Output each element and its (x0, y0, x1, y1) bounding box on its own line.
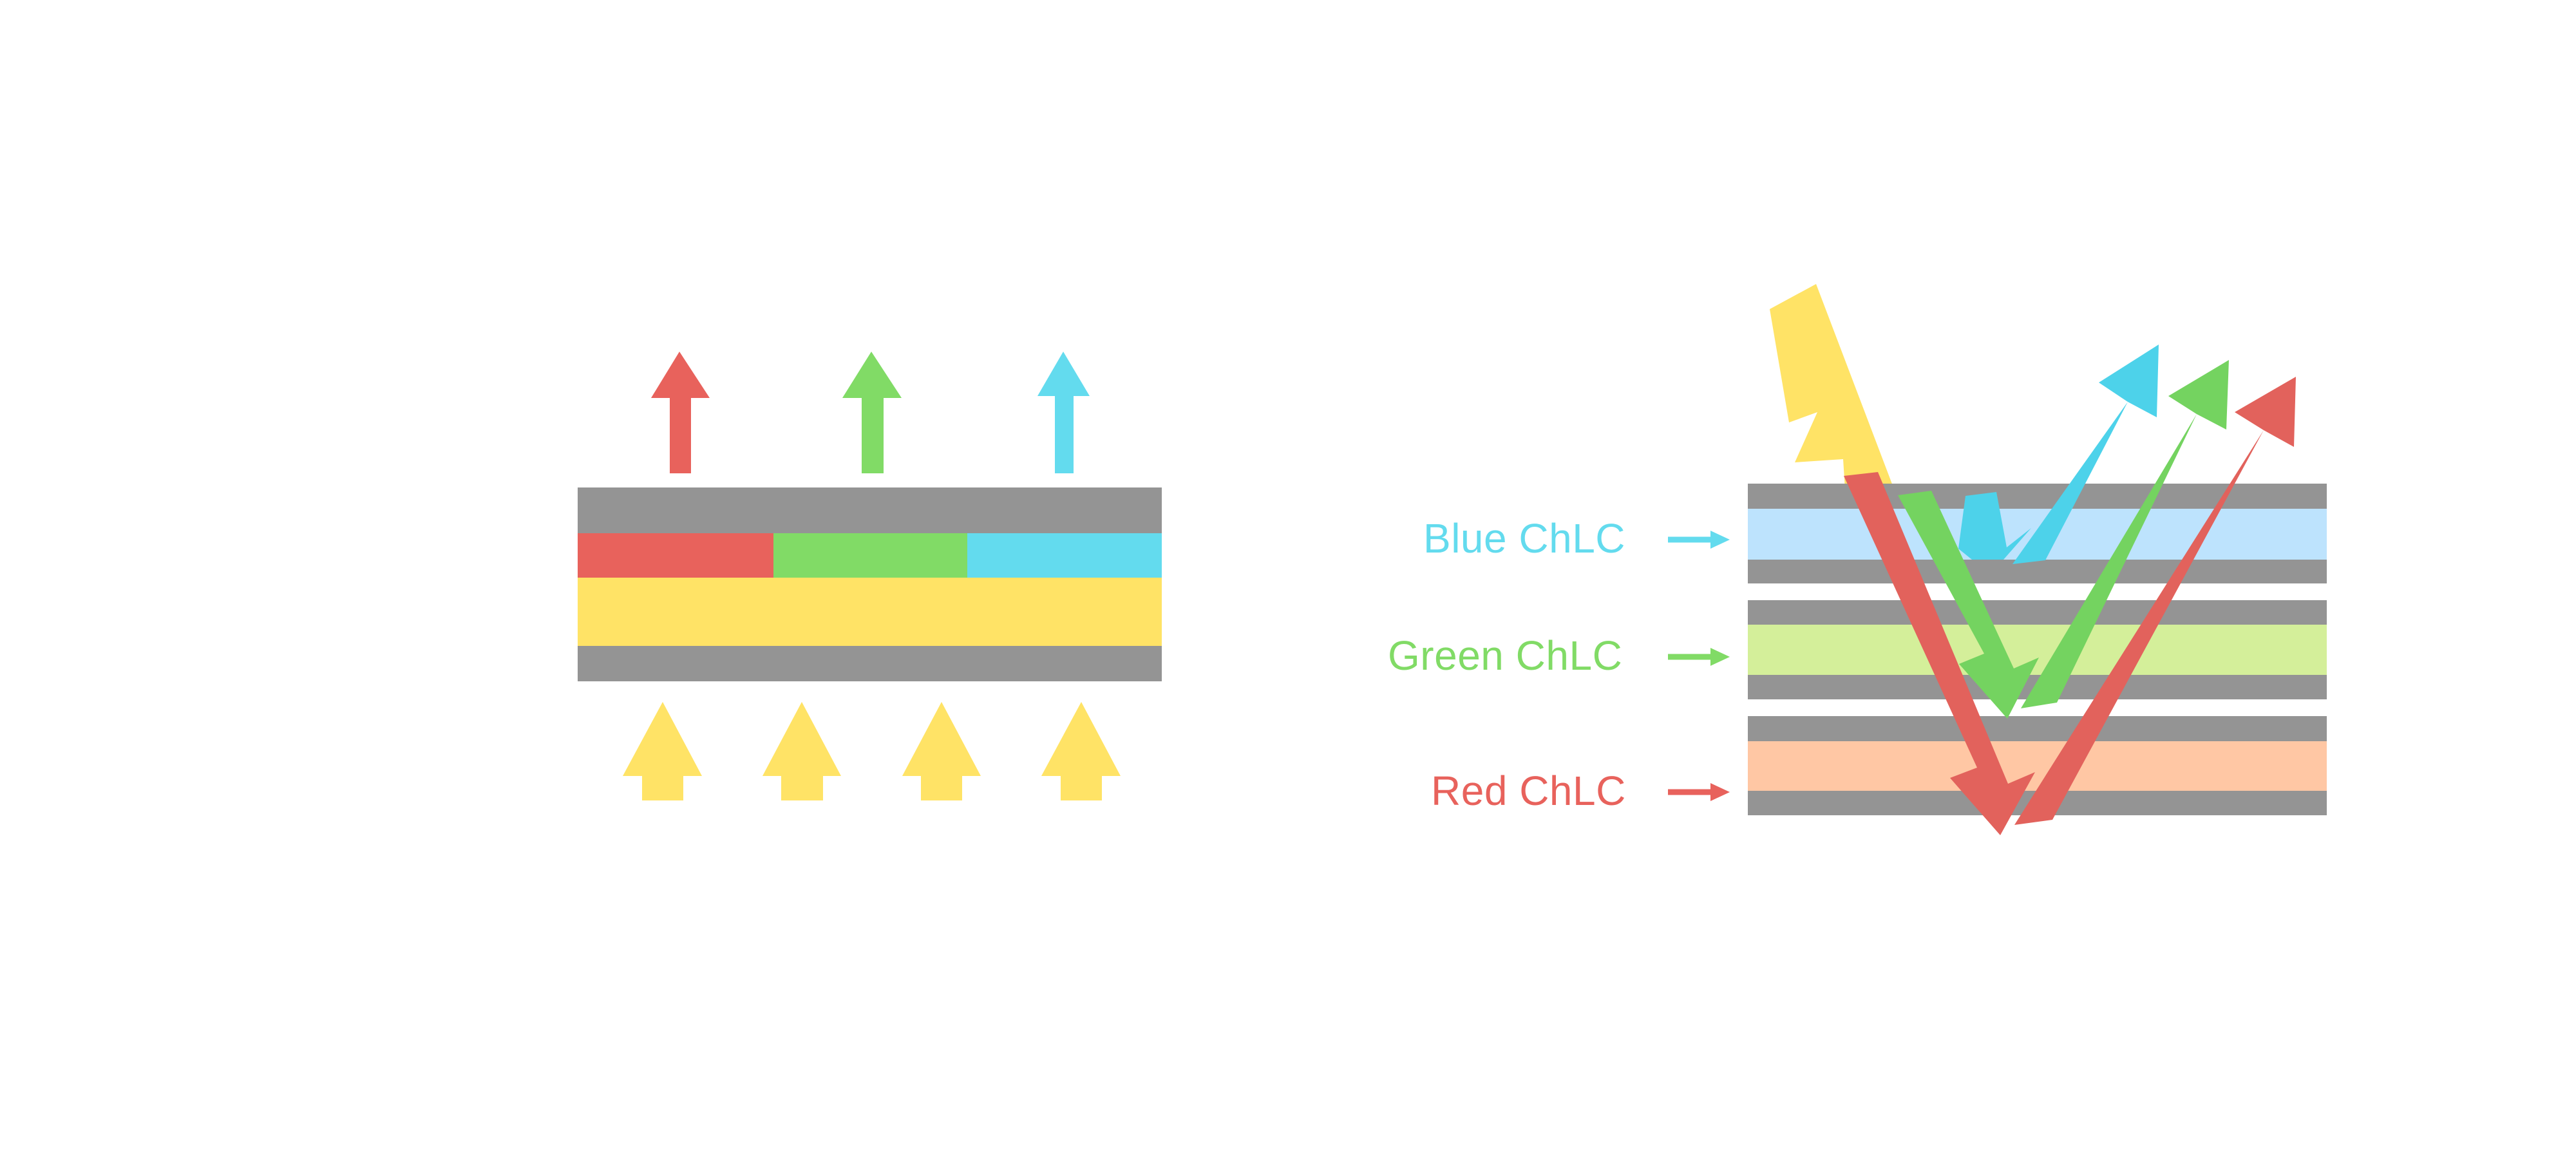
blue-cell-top-electrode (1748, 484, 2327, 509)
incident-white-light-arrow (1770, 284, 1900, 504)
green-cell-top-electrode (1748, 600, 2327, 625)
left-output-arrows-group (651, 352, 1090, 473)
green-chlc-label-group: Green ChLC (1388, 632, 1730, 679)
blue-output-arrow (1037, 352, 1090, 473)
left-bottom-electrode-layer (578, 646, 1162, 681)
backlight-arrow-1 (623, 702, 702, 800)
left-red-subpixel-layer (578, 533, 773, 578)
left-top-electrode-layer (578, 487, 1162, 533)
left-panel-emissive-stack (578, 352, 1162, 800)
red-label-arrow-icon (1668, 783, 1730, 801)
diagram-root: Blue ChLC Green ChLC Red ChLC (0, 0, 2576, 1154)
right-panel-reflective-stack: Blue ChLC Green ChLC Red ChLC (1388, 284, 2327, 835)
backlight-arrow-3 (902, 702, 981, 800)
red-chlc-label-group: Red ChLC (1431, 768, 1730, 814)
chlc-diagram-canvas: Blue ChLC Green ChLC Red ChLC (0, 0, 2576, 1154)
green-chlc-layer (1748, 625, 2327, 675)
left-backlight-arrows-group (623, 702, 1121, 800)
blue-cell-bottom-electrode (1748, 560, 2327, 583)
green-output-arrow (842, 352, 902, 473)
left-backlight-layer (578, 578, 1162, 646)
blue-label-arrow-icon (1668, 531, 1730, 549)
green-chlc-label: Green ChLC (1388, 632, 1622, 679)
red-cell-top-electrode (1748, 716, 2327, 741)
red-output-arrow (651, 352, 710, 473)
red-chlc-layer (1748, 741, 2327, 791)
red-chlc-label: Red ChLC (1431, 768, 1626, 814)
blue-chlc-label: Blue ChLC (1423, 515, 1625, 562)
left-green-subpixel-layer (773, 533, 967, 578)
left-layer-stack (578, 487, 1162, 681)
blue-chlc-label-group: Blue ChLC (1423, 515, 1730, 562)
left-blue-subpixel-layer (967, 533, 1162, 578)
green-label-arrow-icon (1668, 648, 1730, 666)
backlight-arrow-4 (1041, 702, 1121, 800)
backlight-arrow-2 (762, 702, 841, 800)
